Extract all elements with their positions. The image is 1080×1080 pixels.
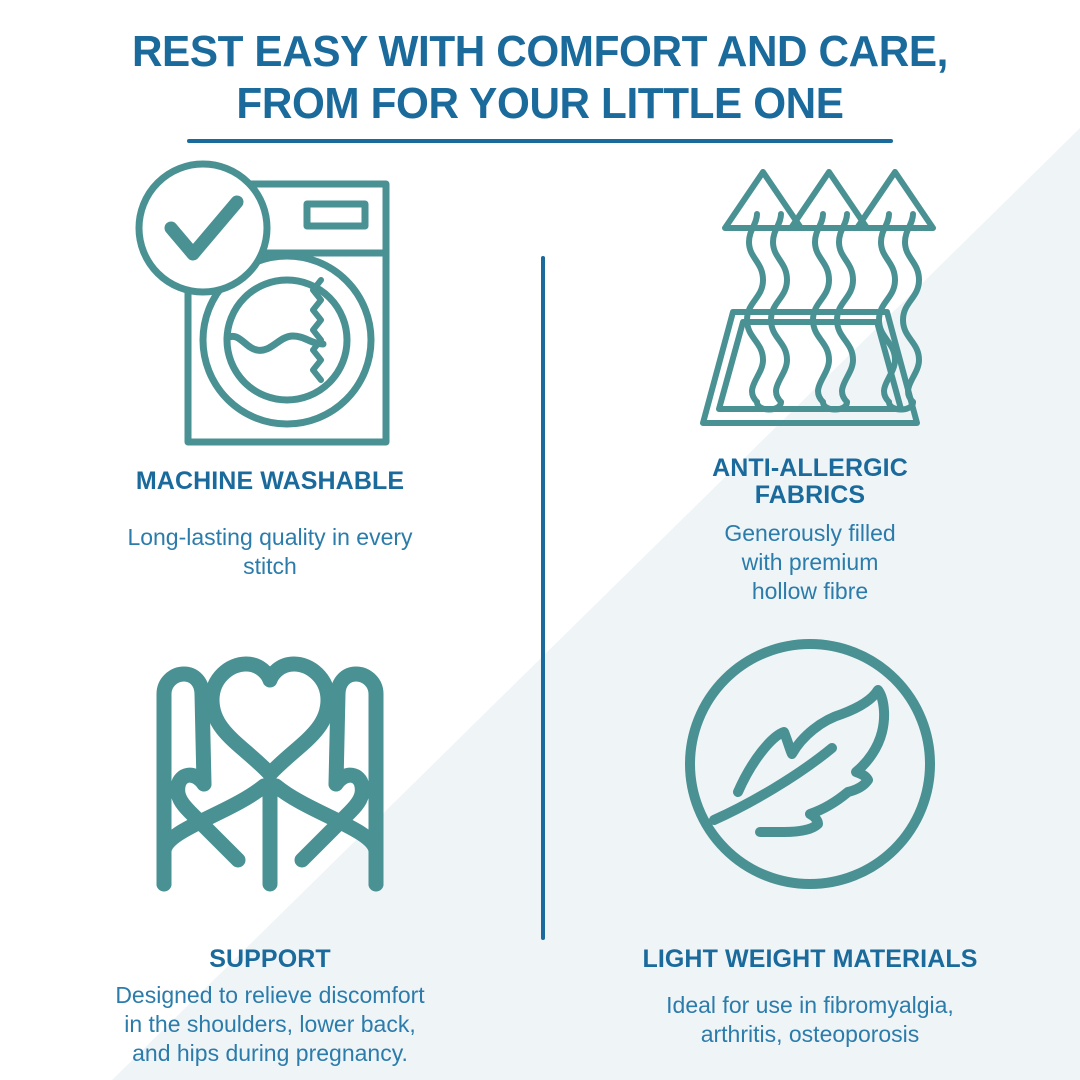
feature-description: Ideal for use in fibromyalgia, arthritis… [666,991,954,1049]
headline-underline [187,139,893,143]
feature-light-weight-materials: LIGHT WEIGHT MATERIALS Ideal for use in … [540,620,1080,1080]
infographic-page: REST EASY WITH COMFORT AND CARE, FROM FO… [0,0,1080,1080]
feature-machine-washable: MACHINE WASHABLE Long-lasting quality in… [0,160,540,620]
feature-support: SUPPORT Designed to relieve discomfort i… [0,620,540,1080]
washing-machine-check-icon [131,160,409,450]
headline-block: REST EASY WITH COMFORT AND CARE, FROM FO… [0,26,1080,143]
hands-holding-heart-icon [134,634,406,922]
feature-description: Generously filled with premium hollow fi… [724,519,895,606]
feature-title: MACHINE WASHABLE [136,468,404,495]
feature-title: LIGHT WEIGHT MATERIALS [642,946,977,973]
breathable-airflow-mat-icon [675,160,945,435]
headline-line-1: REST EASY WITH COMFORT AND CARE, [22,26,1059,78]
headline-line-2: FROM FOR YOUR LITTLE ONE [22,78,1059,130]
feature-grid: MACHINE WASHABLE Long-lasting quality in… [0,160,1080,1080]
feature-description: Designed to relieve discomfort in the sh… [115,981,424,1068]
feature-title: ANTI-ALLERGIC FABRICS [712,455,908,509]
page-title: REST EASY WITH COMFORT AND CARE, FROM FO… [22,26,1059,130]
feature-description: Long-lasting quality in every stitch [127,523,412,581]
feature-title: SUPPORT [209,946,331,973]
feather-in-circle-icon [680,634,940,922]
feature-anti-allergic-fabrics: ANTI-ALLERGIC FABRICS Generously filled … [540,160,1080,620]
